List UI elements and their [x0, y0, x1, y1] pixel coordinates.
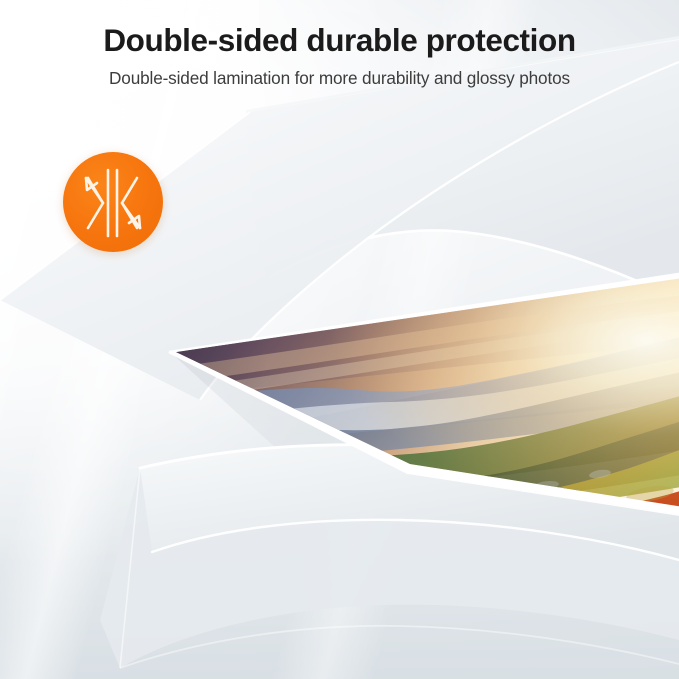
double-sided-lamination-badge [63, 152, 163, 252]
product-feature-panel: Double-sided durable protection Double-s… [0, 0, 679, 679]
double-sided-lamination-icon [63, 152, 163, 252]
laminated-landscape-photo [0, 0, 679, 679]
photo-svg [0, 0, 679, 679]
header-block: Double-sided durable protection Double-s… [0, 22, 679, 89]
arrow-downright-shaft [122, 203, 140, 228]
page-title: Double-sided durable protection [0, 22, 679, 59]
page-subtitle: Double-sided lamination for more durabil… [0, 68, 679, 89]
photo-autumn-deep-red [300, 500, 679, 560]
